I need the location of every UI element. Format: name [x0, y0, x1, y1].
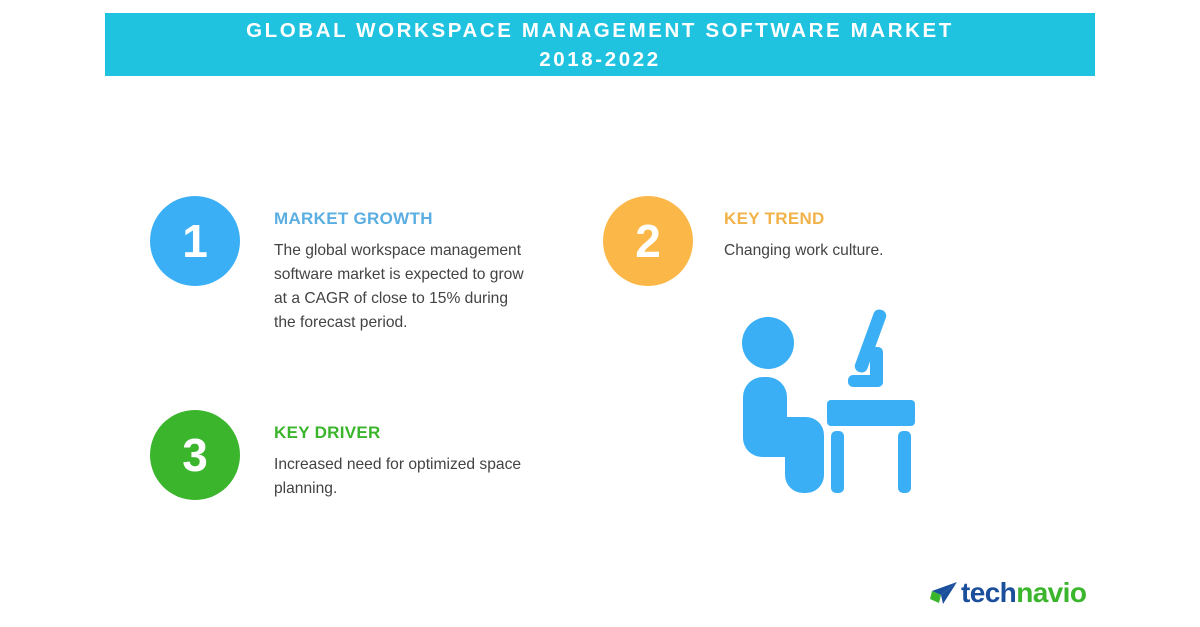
logo-text-navio: navio — [1016, 579, 1086, 607]
fact-heading-3: KEY DRIVER — [274, 424, 534, 441]
fact-body-2: KEY TREND Changing work culture. — [724, 210, 1014, 263]
page-title-line-2: 2018-2022 — [539, 45, 660, 74]
page-title-line-1: GLOBAL WORKSPACE MANAGEMENT SOFTWARE MAR… — [246, 16, 954, 45]
fact-number-badge-2: 2 — [603, 196, 693, 286]
fact-body-1: MARKET GROWTH The global workspace manag… — [274, 210, 524, 335]
fact-body-3: KEY DRIVER Increased need for optimized … — [274, 424, 534, 501]
fact-heading-2: KEY TREND — [724, 210, 1014, 227]
fact-text-3: Increased need for optimized space plann… — [274, 453, 534, 501]
fact-text-2: Changing work culture. — [724, 239, 1014, 263]
paper-plane-icon — [928, 580, 958, 606]
fact-text-1: The global workspace management software… — [274, 239, 524, 335]
technavio-logo: tech navio — [928, 576, 1086, 610]
fact-number-badge-3: 3 — [150, 410, 240, 500]
header-banner: GLOBAL WORKSPACE MANAGEMENT SOFTWARE MAR… — [105, 13, 1095, 76]
fact-number-badge-1: 1 — [150, 196, 240, 286]
logo-text-tech: tech — [961, 579, 1016, 607]
fact-heading-1: MARKET GROWTH — [274, 210, 524, 227]
person-at-desk-icon — [735, 305, 930, 510]
